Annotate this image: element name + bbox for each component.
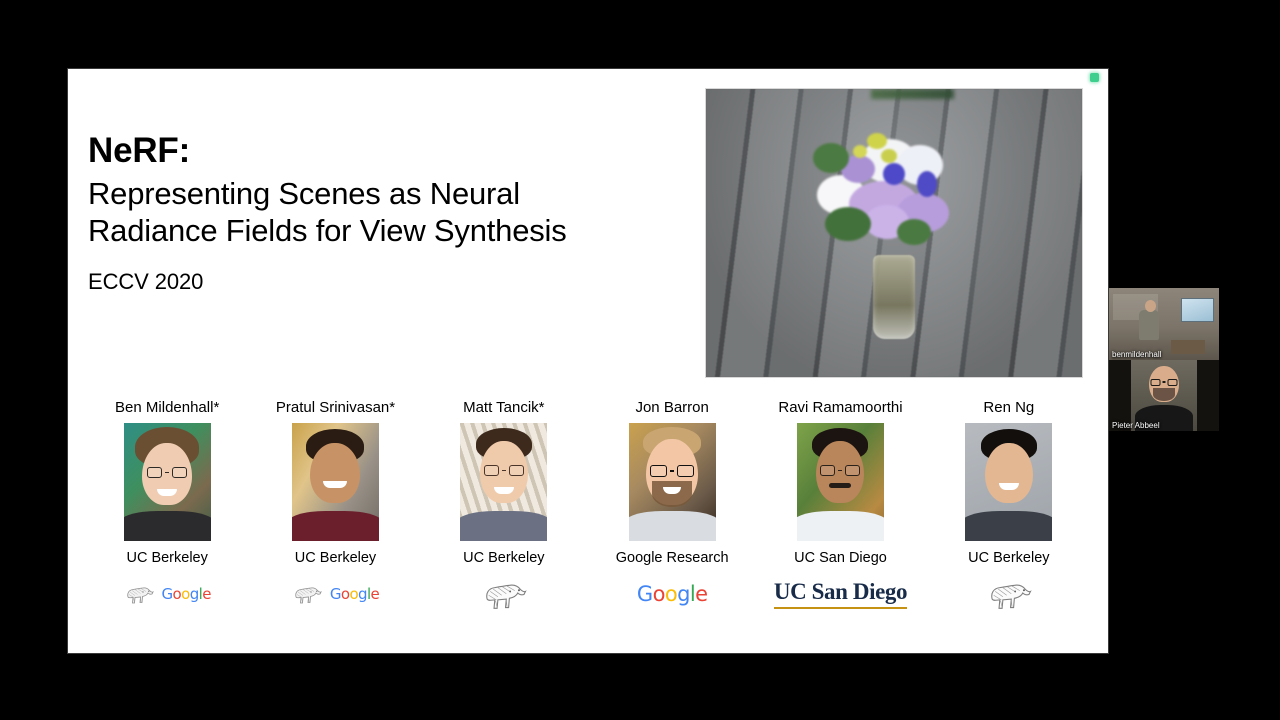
title-colon: : [179,131,190,170]
participant-tile[interactable]: benmildenhall [1109,288,1219,360]
uc-berkeley-bear-icon [481,576,527,613]
background-foliage [871,89,954,99]
author-card: Ren Ng UC Berkeley [928,399,1090,613]
participant-tile[interactable]: Pieter Abbeel [1109,360,1219,432]
avatar [292,423,379,541]
uc-san-diego-wordmark: UC San Diego [774,579,907,605]
shared-slide[interactable]: NeRF: Representing Scenes as Neural Radi… [68,69,1108,653]
google-logo: Google [330,587,379,602]
author-card: Pratul Srinivasan* UC Berkeley [254,399,416,613]
author-logos: Google [292,575,379,613]
glasses-icon [1151,379,1178,386]
glass-vase [873,255,915,339]
author-name: Ravi Ramamoorthi [778,399,902,416]
author-logos [481,575,527,613]
author-logos: UC San Diego [774,575,907,613]
author-name: Pratul Srinivasan* [276,399,395,416]
author-name: Ren Ng [983,399,1034,416]
presenter-head [1145,300,1156,312]
author-affiliation: UC Berkeley [968,550,1049,566]
avatar [629,423,716,541]
title-subtitle: Representing Scenes as Neural Radiance F… [88,176,708,249]
author-affiliation: UC Berkeley [126,550,207,566]
avatar [965,423,1052,541]
podium [1171,340,1205,354]
author-card: Ben Mildenhall* UC Berkeley [86,399,248,613]
participant-thumbnail-strip[interactable]: benmildenhall Pieter Abbeel [1109,288,1219,431]
author-logos: Google [124,575,211,613]
uc-berkeley-bear-icon [986,576,1032,613]
author-card: Jon Barron Google Research Google [591,399,753,613]
avatar [460,423,547,541]
uc-san-diego-gold-rule [774,607,907,610]
author-logos [986,575,1032,613]
page-title: NeRF: [88,131,708,170]
author-card: Matt Tancik* UC Berkeley [423,399,585,613]
screen-share-view: NeRF: Representing Scenes as Neural Radi… [0,0,1280,720]
beard [1153,388,1175,401]
participant-name-label: benmildenhall [1109,350,1164,359]
google-logo: Google [162,587,211,602]
avatar [797,423,884,541]
teaser-video[interactable] [706,89,1082,377]
author-affiliation: Google Research [616,550,729,566]
title-main-text: NeRF [88,131,179,170]
uc-berkeley-bear-icon [124,582,154,606]
authors-grid: Ben Mildenhall* UC Berkeley [86,399,1090,613]
author-affiliation: UC San Diego [794,550,887,566]
flower-bouquet [779,115,1009,265]
uc-san-diego-logo: UC San Diego [774,579,907,610]
slide-title-block: NeRF: Representing Scenes as Neural Radi… [88,131,708,295]
green-dot-icon [1090,73,1099,82]
google-logo: Google [637,584,708,605]
author-name: Matt Tancik* [463,399,544,416]
author-name: Jon Barron [635,399,708,416]
author-affiliation: UC Berkeley [295,550,376,566]
uc-berkeley-bear-icon [292,582,322,606]
avatar [124,423,211,541]
author-affiliation: UC Berkeley [463,550,544,566]
participant-name-label: Pieter Abbeel [1109,421,1163,430]
presenter-body [1139,310,1159,340]
projection-screen [1181,298,1214,322]
author-logos: Google [637,575,708,613]
author-card: Ravi Ramamoorthi UC San Diego UC San Die… [759,399,921,613]
venue-label: ECCV 2020 [88,269,708,295]
author-name: Ben Mildenhall* [115,399,219,416]
